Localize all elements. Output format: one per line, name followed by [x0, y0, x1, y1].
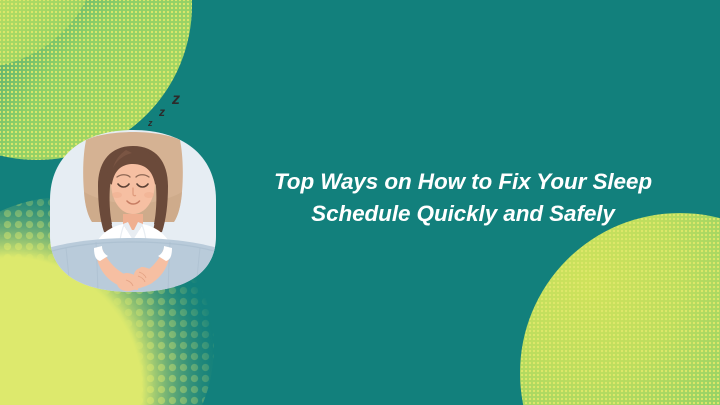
- bottom-right-accent-shape: [610, 305, 720, 405]
- zzz-medium: z: [158, 105, 165, 119]
- page-title-line-1: Top Ways on How to Fix Your Sleep: [258, 166, 668, 198]
- blanket: [42, 238, 224, 300]
- sleeping-woman-illustration: z z z: [48, 128, 218, 294]
- sleep-zzz-icon: z z z: [147, 91, 180, 128]
- zzz-large: z: [171, 91, 180, 108]
- top-left-accent-shape: [0, 0, 100, 68]
- page-title: Top Ways on How to Fix Your Sleep Schedu…: [258, 166, 668, 230]
- zzz-small: z: [147, 118, 153, 128]
- slide-canvas: z z z Top Ways on How to Fix Your Sleep …: [0, 0, 720, 405]
- bottom-right-halftone-dots: [520, 213, 720, 405]
- page-title-line-2: Schedule Quickly and Safely: [258, 198, 668, 230]
